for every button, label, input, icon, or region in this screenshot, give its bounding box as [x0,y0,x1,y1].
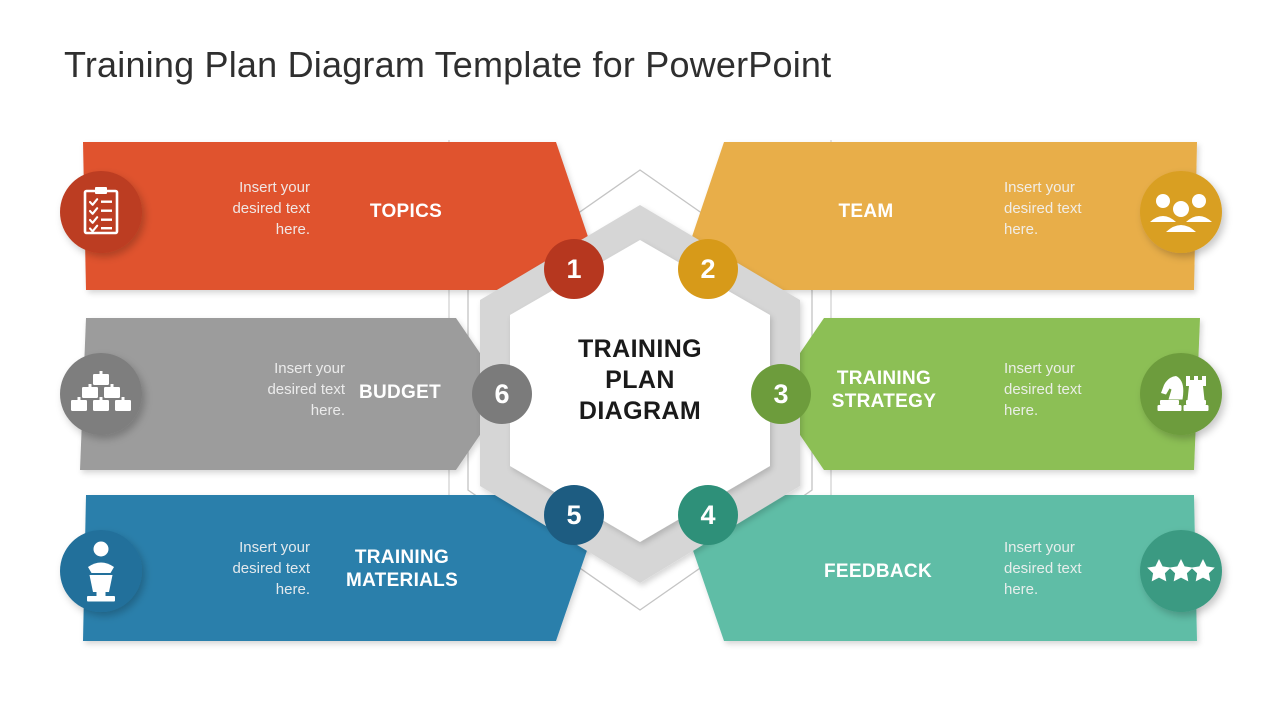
center-hexagon-title: TRAINING PLAN DIAGRAM [520,334,760,427]
band-label-feedback: FEEDBACK [798,560,958,583]
desc-line: desired text [1004,379,1149,400]
band-label-line: STRATEGY [814,390,954,413]
step-number-4: 4 [678,485,738,545]
desc-line: desired text [200,379,345,400]
band-label-training-strategy: TRAINING STRATEGY [814,367,954,413]
step-number-2: 2 [678,239,738,299]
desc-line: Insert your [165,537,310,558]
desc-line: here. [1004,400,1149,421]
desc-line: desired text [165,198,310,219]
desc-line: desired text [1004,198,1149,219]
step-number-3: 3 [751,364,811,424]
center-title-line-2: PLAN [520,365,760,396]
step-number-1: 1 [544,239,604,299]
band-desc-team: Insert your desired text here. [1004,177,1149,240]
desc-line: Insert your [1004,177,1149,198]
band-label-training-materials: TRAINING MATERIALS [317,546,487,592]
desc-line: Insert your [1004,537,1149,558]
band-desc-topics: Insert your desired text here. [165,177,310,240]
band-desc-feedback: Insert your desired text here. [1004,537,1149,600]
band-label-line: TRAINING [814,367,954,390]
band-label-topics: TOPICS [338,200,474,223]
desc-line: Insert your [200,358,345,379]
slide-canvas: Training Plan Diagram Template for Power… [0,0,1280,720]
band-label-line: MATERIALS [317,569,487,592]
icon-circle-topics[interactable] [60,171,142,253]
desc-line: desired text [165,558,310,579]
center-title-line-1: TRAINING [520,334,760,365]
desc-line: here. [200,400,345,421]
step-number-5: 5 [544,485,604,545]
desc-line: Insert your [1004,358,1149,379]
desc-line: here. [1004,219,1149,240]
desc-line: Insert your [165,177,310,198]
desc-line: desired text [1004,558,1149,579]
band-desc-training-materials: Insert your desired text here. [165,537,310,600]
band-desc-training-strategy: Insert your desired text here. [1004,358,1149,421]
icon-circle-budget[interactable] [60,353,142,435]
band-label-budget: BUDGET [332,381,468,404]
band-label-line: TRAINING [317,546,487,569]
desc-line: here. [165,219,310,240]
desc-line: here. [1004,579,1149,600]
desc-line: here. [165,579,310,600]
band-label-team: TEAM [798,200,934,223]
center-title-line-3: DIAGRAM [520,396,760,427]
band-desc-budget: Insert your desired text here. [200,358,345,421]
